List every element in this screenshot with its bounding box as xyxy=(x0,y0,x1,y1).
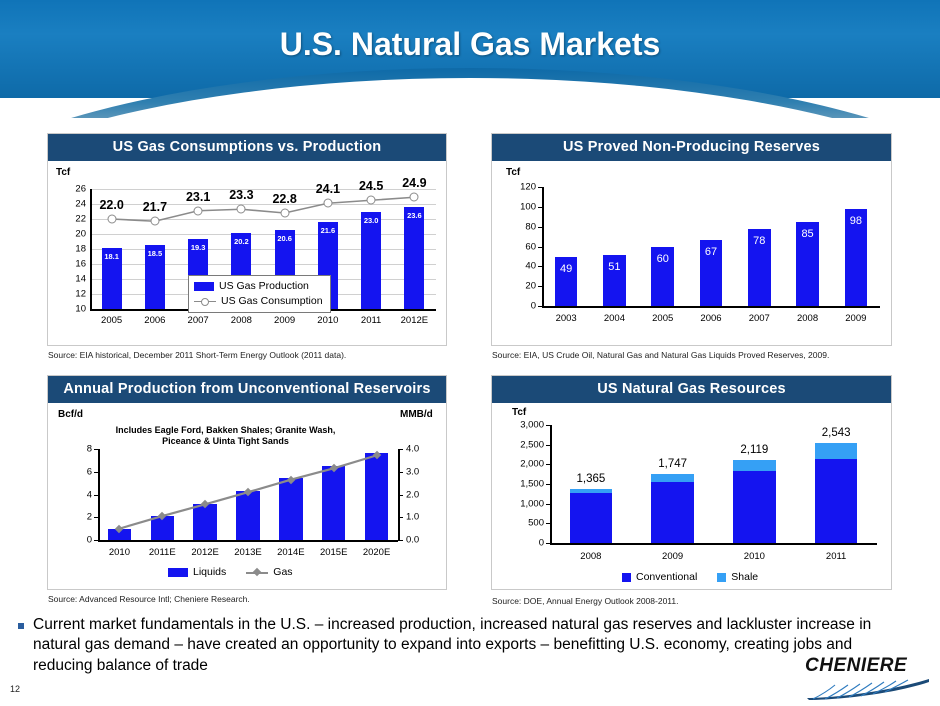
slide-header: U.S. Natural Gas Markets xyxy=(0,0,940,118)
bar-conventional xyxy=(815,459,858,543)
x-axis-tick-label: 2008 xyxy=(580,551,601,562)
legend-item-liquids: Liquids xyxy=(168,566,226,578)
x-axis-tick-label: 2005 xyxy=(652,313,673,324)
bar-shale xyxy=(733,460,776,471)
y-axis-line xyxy=(550,425,552,544)
page-title: U.S. Natural Gas Markets xyxy=(0,26,940,63)
gas-line xyxy=(48,403,448,592)
y-axis-tick-label: 1,000 xyxy=(506,498,544,509)
line-marker xyxy=(150,217,159,226)
legend-item-conventional: Conventional xyxy=(622,571,697,583)
bar-shale xyxy=(570,489,613,492)
legend-item-shale: Shale xyxy=(717,571,758,583)
panel-us-natural-gas-resources: US Natural Gas Resources Tcf05001,0001,5… xyxy=(491,375,892,590)
y-axis-tick-label: 20 xyxy=(510,281,536,292)
y-axis-tick-label: 1,500 xyxy=(506,479,544,490)
x-axis-tick-label: 2004 xyxy=(604,313,625,324)
page-number: 12 xyxy=(10,684,20,694)
bullet-square-icon xyxy=(18,623,24,629)
panel-title-unconventional-production: Annual Production from Unconventional Re… xyxy=(48,376,446,403)
bar-value-label: 67 xyxy=(705,246,717,258)
chart-us-natural-gas-resources: Tcf05001,0001,5002,0002,5003,0001,365200… xyxy=(492,403,891,592)
y-axis-tick-label: 0 xyxy=(510,301,536,312)
x-axis-tick-label: 2011 xyxy=(826,551,846,562)
bar-total-label: 1,365 xyxy=(576,473,605,485)
bar-value-label: 51 xyxy=(608,261,620,273)
x-axis-tick-label: 2007 xyxy=(749,313,770,324)
y-axis-tick-label: 80 xyxy=(510,221,536,232)
y-axis-tick-label: 60 xyxy=(510,241,536,252)
legend-item-consumption: US Gas Consumption xyxy=(194,294,323,309)
legend-swatch-liquids xyxy=(168,568,188,577)
bar-total-label: 2,119 xyxy=(740,444,768,456)
bar-shale xyxy=(651,474,694,482)
chart-unconventional-production: Bcf/dMMB/dIncludes Eagle Ford, Bakken Sh… xyxy=(48,403,446,592)
chart-legend: US Gas ProductionUS Gas Consumption xyxy=(188,275,331,313)
line-marker xyxy=(107,215,116,224)
y-axis-tick-label: 0 xyxy=(506,538,544,549)
line-value-label: 24.1 xyxy=(316,182,340,196)
line-marker xyxy=(410,193,419,202)
legend-label: Gas xyxy=(273,566,292,578)
line-marker xyxy=(367,196,376,205)
y-axis-tick-label: 500 xyxy=(506,518,544,529)
y-axis-unit-label: Tcf xyxy=(506,167,520,178)
line-marker xyxy=(194,206,203,215)
x-axis-tick-label: 2006 xyxy=(700,313,721,324)
legend-label: Liquids xyxy=(193,566,226,578)
legend-label: Shale xyxy=(731,571,758,583)
cheniere-swoosh-icon xyxy=(805,677,933,701)
legend-swatch-bar xyxy=(194,282,214,291)
x-axis-tick-label: 2009 xyxy=(845,313,866,324)
panel-proved-non-producing-reserves: US Proved Non-Producing Reserves Tcf0204… xyxy=(491,133,892,346)
legend-label: Conventional xyxy=(636,571,697,583)
line-value-label: 23.3 xyxy=(229,188,253,202)
source-unconventional-production: Source: Advanced Resource Intl; Cheniere… xyxy=(48,594,250,604)
y-axis-tick-label: 120 xyxy=(510,182,536,193)
bullet-list: Current market fundamentals in the U.S. … xyxy=(18,615,908,676)
line-value-label: 22.0 xyxy=(99,198,123,212)
legend-label: US Gas Production xyxy=(219,279,309,294)
bar-conventional xyxy=(570,493,613,543)
source-us-natural-gas-resources: Source: DOE, Annual Energy Outlook 2008-… xyxy=(492,596,679,606)
bar-value-label: 85 xyxy=(801,228,813,240)
bar-shale xyxy=(815,443,858,459)
chart-proved-non-producing-reserves: Tcf0204060801001204920035120046020056720… xyxy=(492,161,891,348)
x-axis-tick-label: 2009 xyxy=(662,551,683,562)
bar-value-label: 98 xyxy=(850,215,862,227)
source-proved-non-producing-reserves: Source: EIA, US Crude Oil, Natural Gas a… xyxy=(492,350,829,360)
line-marker xyxy=(280,209,289,218)
y-axis-tick-label: 2,500 xyxy=(506,439,544,450)
x-axis-tick-label: 2003 xyxy=(556,313,577,324)
line-value-label: 21.7 xyxy=(143,200,167,214)
panel-consumption-vs-production: US Gas Consumptions vs. Production Tcf10… xyxy=(47,133,447,346)
line-value-label: 24.5 xyxy=(359,179,383,193)
panel-title-us-natural-gas-resources: US Natural Gas Resources xyxy=(492,376,891,403)
bar-conventional xyxy=(733,471,776,543)
legend-swatch-line xyxy=(194,297,216,306)
line-value-label: 22.8 xyxy=(272,192,296,206)
source-consumption-vs-production: Source: EIA historical, December 2011 Sh… xyxy=(48,350,346,360)
line-value-label: 23.1 xyxy=(186,190,210,204)
legend-swatch-conventional xyxy=(622,573,631,582)
line-value-label: 24.9 xyxy=(402,176,426,190)
bar-total-label: 2,543 xyxy=(822,427,851,439)
chart-consumption-vs-production: Tcf101214161820222426200518.1200618.5200… xyxy=(48,161,446,348)
chart-legend: LiquidsGas xyxy=(168,566,293,578)
chart-legend: ConventionalShale xyxy=(622,571,758,583)
legend-swatch-shale xyxy=(717,573,726,582)
bar-total-label: 1,747 xyxy=(658,458,687,470)
y-axis-tick-label: 2,000 xyxy=(506,459,544,470)
x-axis-tick-label: 2008 xyxy=(797,313,818,324)
line-marker xyxy=(237,205,246,214)
legend-item-production: US Gas Production xyxy=(194,279,323,294)
line-marker xyxy=(323,199,332,208)
y-axis-tick-label: 40 xyxy=(510,261,536,272)
x-axis-line xyxy=(542,306,880,308)
cheniere-wordmark: CHENIERE xyxy=(805,655,933,677)
y-axis-tick-label: 100 xyxy=(510,201,536,212)
x-axis-tick-label: 2010 xyxy=(744,551,765,562)
y-axis-tick-label: 3,000 xyxy=(506,420,544,431)
x-axis-line xyxy=(550,543,877,545)
cheniere-logo: CHENIERE xyxy=(805,655,933,701)
legend-swatch-gas xyxy=(246,568,268,577)
panel-title-consumption-vs-production: US Gas Consumptions vs. Production xyxy=(48,134,446,161)
bar-value-label: 78 xyxy=(753,235,765,247)
bar-value-label: 49 xyxy=(560,263,572,275)
y-axis-line xyxy=(542,187,544,307)
bar-value-label: 60 xyxy=(657,253,669,265)
legend-label: US Gas Consumption xyxy=(221,294,323,309)
panel-title-proved-non-producing-reserves: US Proved Non-Producing Reserves xyxy=(492,134,891,161)
panel-unconventional-production: Annual Production from Unconventional Re… xyxy=(47,375,447,590)
y-axis-unit-label: Tcf xyxy=(512,407,526,418)
legend-item-gas: Gas xyxy=(246,566,292,578)
bullet-item-text: Current market fundamentals in the U.S. … xyxy=(33,615,908,676)
bar-conventional xyxy=(651,482,694,543)
